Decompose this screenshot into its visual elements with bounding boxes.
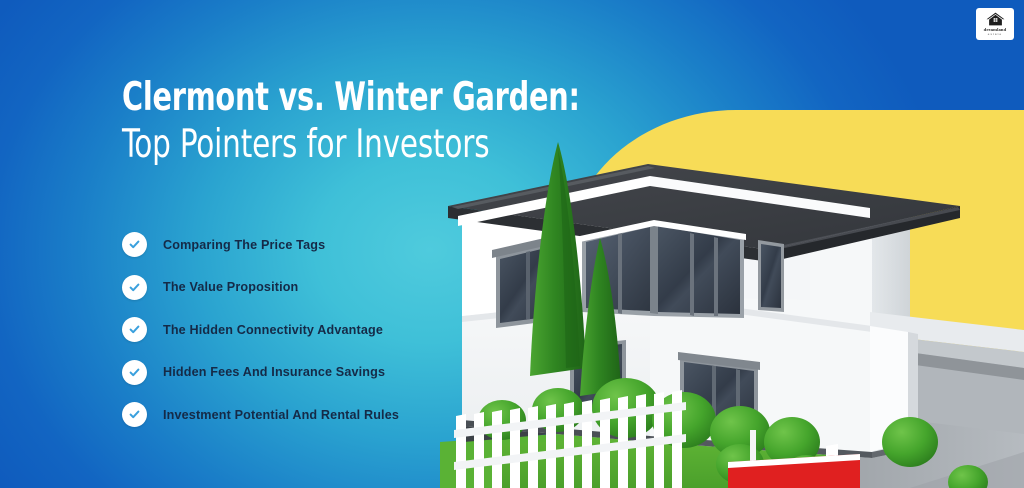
list-item-label: Investment Potential And Rental Rules	[163, 408, 399, 422]
list-item: Hidden Fees And Insurance Savings	[122, 360, 399, 385]
check-circle-icon	[122, 275, 147, 300]
list-item: The Value Proposition	[122, 275, 399, 300]
list-item-label: The Value Proposition	[163, 280, 298, 294]
check-circle-icon	[122, 360, 147, 385]
list-item: Comparing The Price Tags	[122, 232, 399, 257]
promo-banner: Clermont vs. Winter Garden: Top Pointers…	[0, 0, 1024, 488]
check-circle-icon	[122, 402, 147, 427]
logo-subtitle: estate	[988, 32, 1002, 36]
check-circle-icon	[122, 232, 147, 257]
headline-line-2: Top Pointers for Investors	[122, 122, 475, 168]
list-item-label: The Hidden Connectivity Advantage	[163, 323, 383, 337]
check-circle-icon	[122, 317, 147, 342]
banner-content: Clermont vs. Winter Garden: Top Pointers…	[0, 0, 560, 488]
brand-logo[interactable]: dreamland estate	[976, 8, 1014, 40]
list-item-label: Comparing The Price Tags	[163, 238, 325, 252]
house-roof-icon	[986, 12, 1005, 26]
list-item: Investment Potential And Rental Rules	[122, 402, 399, 427]
list-item: The Hidden Connectivity Advantage	[122, 317, 399, 342]
key-points-list: Comparing The Price Tags The Value Propo…	[122, 232, 399, 445]
page-title: Clermont vs. Winter Garden: Top Pointers…	[122, 76, 542, 168]
list-item-label: Hidden Fees And Insurance Savings	[163, 365, 385, 379]
headline-line-1: Clermont vs. Winter Garden:	[122, 76, 466, 120]
